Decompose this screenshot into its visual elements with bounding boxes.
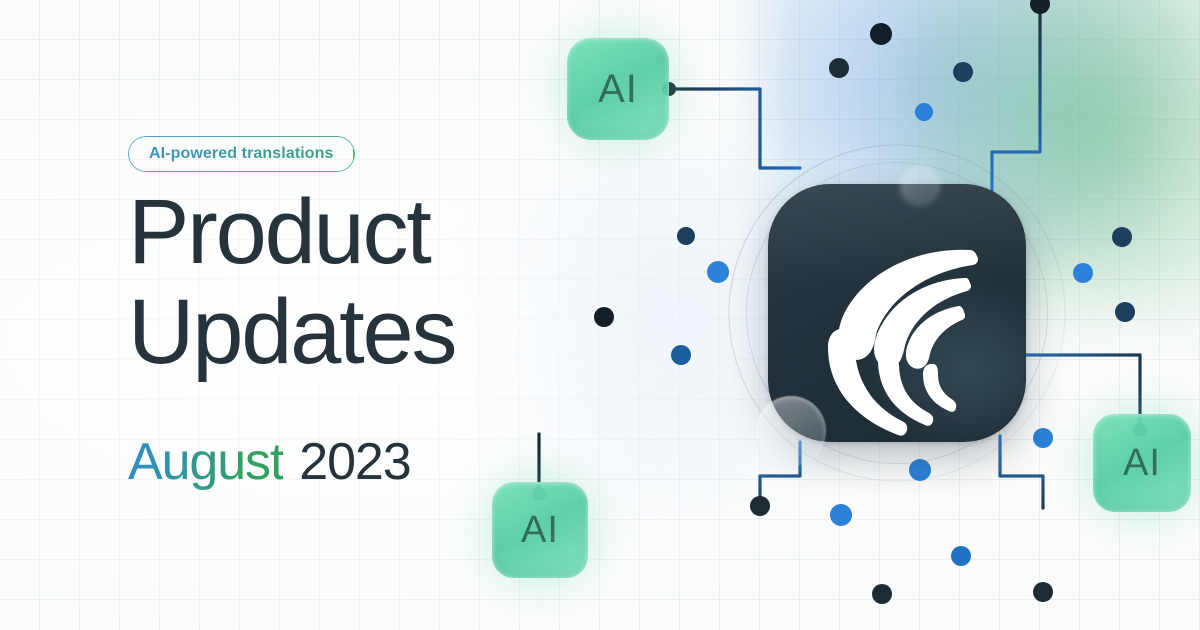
date-line: August2023 (128, 436, 411, 488)
date-month: August (128, 433, 283, 491)
decorative-bubble (900, 166, 940, 206)
ai-chip-bottom-left: AI (492, 482, 588, 578)
chip-label: AI (521, 509, 559, 552)
date-year: 2023 (299, 433, 410, 491)
chip-label: AI (598, 67, 638, 112)
decorative-bubble (756, 396, 826, 466)
chip-label: AI (1123, 442, 1161, 485)
status-badge: AI-powered translations (128, 136, 355, 172)
hero-text-column: AI-powered translations Product Updates … (0, 0, 560, 630)
ai-chip-right: AI (1093, 414, 1191, 512)
ai-chip-top-left: AI (567, 38, 669, 140)
title-line-1: Product (128, 186, 598, 280)
title-line-2: Updates (128, 286, 598, 380)
page-title: Product Updates (128, 186, 598, 380)
hero-canvas: AI AI AI (0, 0, 1200, 630)
